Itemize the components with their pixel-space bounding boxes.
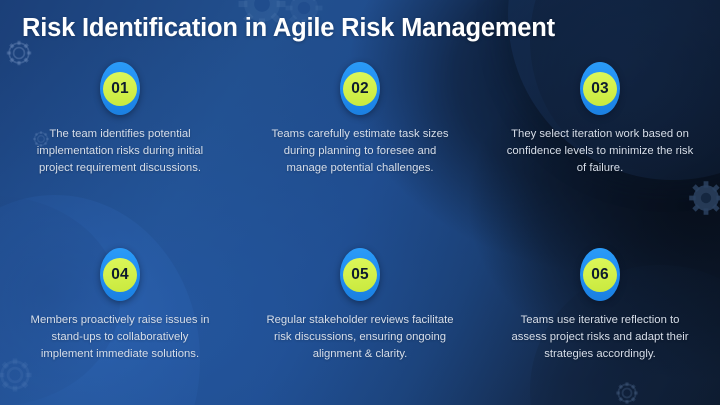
page-title: Risk Identification in Agile Risk Manage… [22,14,555,43]
step-badge-05: 05 [340,248,380,301]
step-badge-inner-05: 05 [343,258,377,292]
step-card-03: 03 They select iteration work based on c… [480,62,720,238]
step-badge-inner-03: 03 [583,72,617,106]
step-badge-inner-01: 01 [103,72,137,106]
step-card-04: 04 Members proactively raise issues in s… [0,238,240,405]
step-number-06: 06 [591,267,608,283]
step-badge-06: 06 [580,248,620,301]
step-badge-04: 04 [100,248,140,301]
step-number-01: 01 [111,81,128,97]
step-badge-inner-04: 04 [103,258,137,292]
step-number-05: 05 [351,267,368,283]
step-description-05: Regular stakeholder reviews facilitate r… [265,312,455,363]
step-number-04: 04 [111,267,128,283]
step-description-06: Teams use iterative reflection to assess… [505,312,695,363]
step-description-03: They select iteration work based on conf… [505,126,695,177]
step-card-01: 01 The team identifies potential impleme… [0,62,240,238]
step-badge-01: 01 [100,62,140,115]
slide-canvas: Risk Identification in Agile Risk Manage… [0,0,720,405]
step-badge-inner-02: 02 [343,72,377,106]
step-badge-inner-06: 06 [583,258,617,292]
step-badge-03: 03 [580,62,620,115]
step-card-05: 05 Regular stakeholder reviews facilitat… [240,238,480,405]
steps-grid: 01 The team identifies potential impleme… [0,62,720,405]
step-card-02: 02 Teams carefully estimate task sizes d… [240,62,480,238]
step-badge-02: 02 [340,62,380,115]
step-card-06: 06 Teams use iterative reflection to ass… [480,238,720,405]
step-number-02: 02 [351,81,368,97]
step-description-01: The team identifies potential implementa… [25,126,215,177]
step-description-02: Teams carefully estimate task sizes duri… [265,126,455,177]
step-number-03: 03 [591,81,608,97]
step-description-04: Members proactively raise issues in stan… [25,312,215,363]
